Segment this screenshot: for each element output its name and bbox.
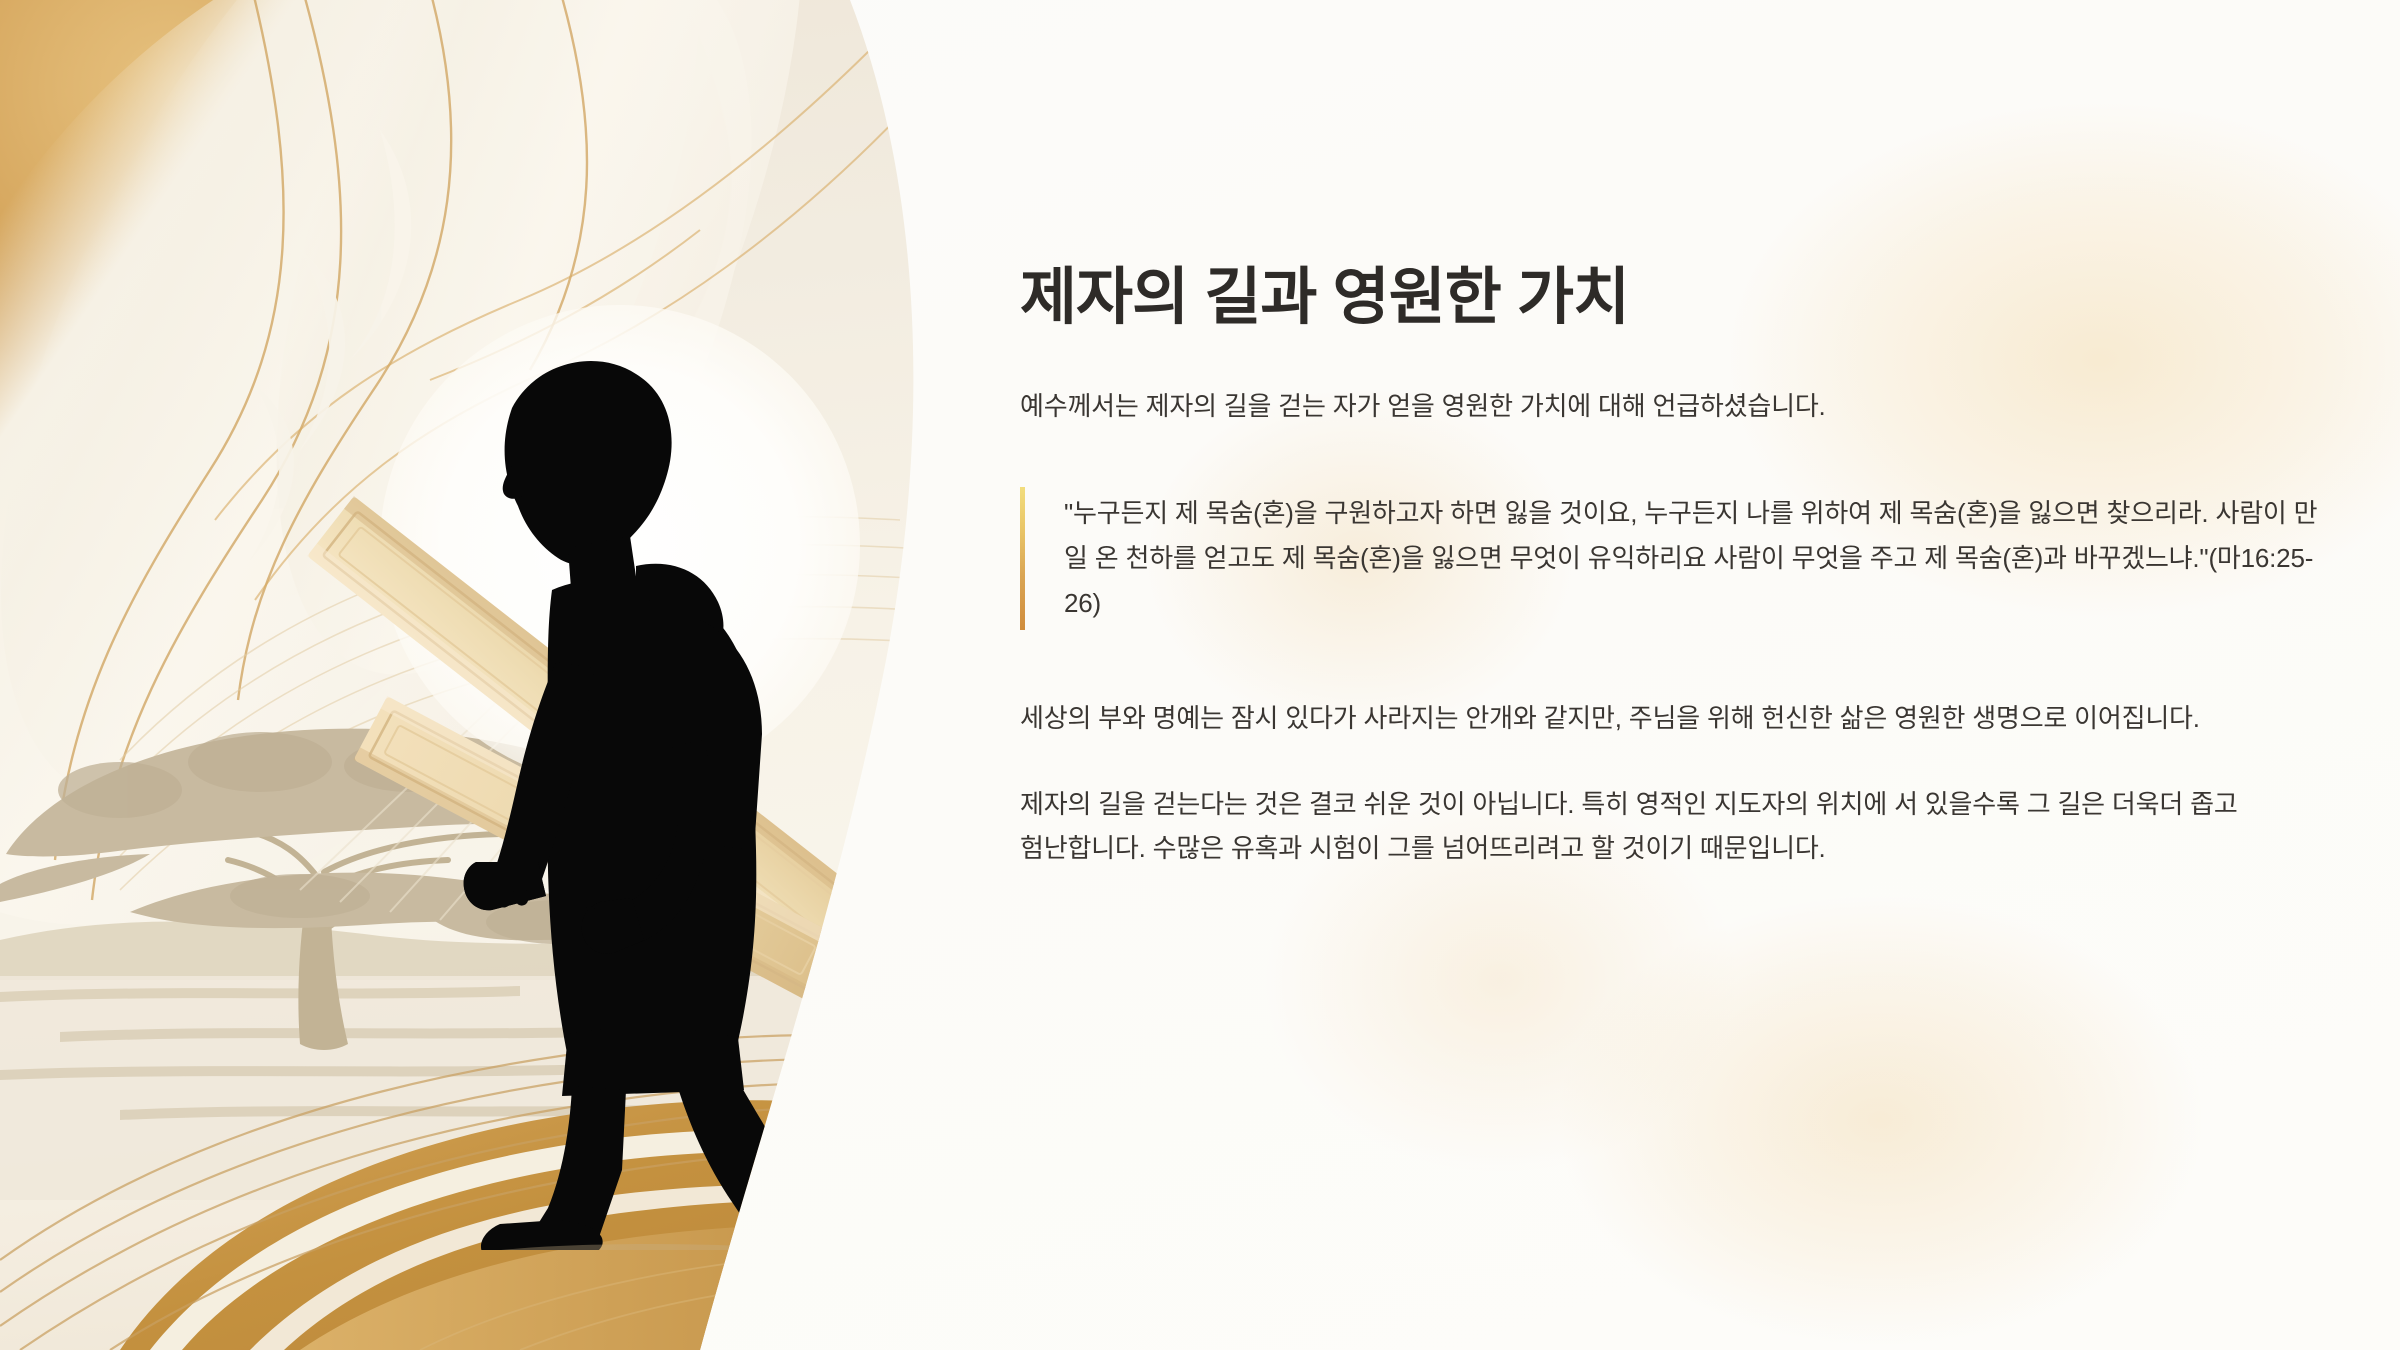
content-column: 제자의 길과 영원한 가치 예수께서는 제자의 길을 걷는 자가 얻을 영원한 … (1020, 0, 2320, 1350)
page-title: 제자의 길과 영원한 가치 (1020, 262, 2320, 333)
body-paragraph-2: 제자의 길을 걷는다는 것은 결코 쉬운 것이 아닙니다. 특히 영적인 지도자… (1020, 782, 2265, 870)
body-paragraph-1: 세상의 부와 명예는 잠시 있다가 사라지는 안개와 같지만, 주님을 위해 헌… (1020, 696, 2265, 740)
scripture-blockquote: "누구든지 제 목숨(혼)을 구원하고자 하면 잃을 것이요, 누구든지 나를 … (1020, 487, 2320, 629)
quote-text: "누구든지 제 목숨(혼)을 구원하고자 하면 잃을 것이요, 누구든지 나를 … (1064, 491, 2320, 625)
slide-root: 제자의 길과 영원한 가치 예수께서는 제자의 길을 걷는 자가 얻을 영원한 … (0, 0, 2400, 1350)
quote-accent-bar (1020, 487, 1025, 629)
intro-paragraph: 예수께서는 제자의 길을 걷는 자가 얻을 영원한 가치에 대해 언급하셨습니다… (1020, 385, 2320, 427)
